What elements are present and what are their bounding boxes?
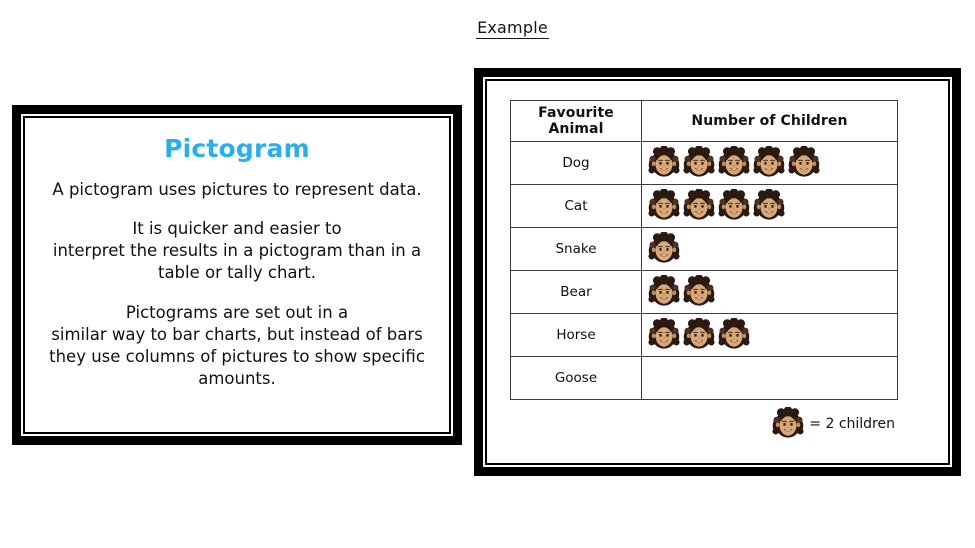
child-face-icon	[647, 232, 681, 266]
example-panel-inner-frame: Favourite Animal Number of Children DogC…	[485, 79, 950, 465]
icon-count-cell	[642, 357, 898, 400]
column-header-children: Number of Children	[642, 101, 898, 142]
pictogram-legend: = 2 children	[510, 407, 897, 441]
child-face-icon	[682, 318, 716, 352]
animal-name-cell: Dog	[511, 142, 642, 185]
info-paragraph-3: Pictograms are set out in asimilar way t…	[44, 302, 430, 390]
child-face-icon	[771, 407, 805, 441]
pictogram-table-body: DogCatSnakeBearHorseGoose	[511, 142, 898, 400]
column-header-animal: Favourite Animal	[511, 101, 642, 142]
table-header-row: Favourite Animal Number of Children	[511, 101, 898, 142]
child-face-icon	[787, 146, 821, 180]
table-row: Goose	[511, 357, 898, 400]
info-panel-inner-frame: Pictogram A pictogram uses pictures to r…	[23, 116, 451, 434]
table-row: Dog	[511, 142, 898, 185]
child-face-icon	[682, 275, 716, 309]
icon-count-cell	[642, 314, 898, 357]
animal-name-cell: Horse	[511, 314, 642, 357]
icon-count-cell	[642, 142, 898, 185]
info-paragraph-2: It is quicker and easier tointerpret the…	[44, 218, 430, 284]
page-title: Pictogram	[44, 135, 430, 163]
table-row: Cat	[511, 185, 898, 228]
child-face-icon	[647, 146, 681, 180]
table-row: Snake	[511, 228, 898, 271]
table-row: Horse	[511, 314, 898, 357]
child-face-icon	[682, 189, 716, 223]
child-face-icon	[682, 146, 716, 180]
info-panel-body: Pictogram A pictogram uses pictures to r…	[28, 121, 446, 398]
icon-count-cell	[642, 271, 898, 314]
animal-name-cell: Goose	[511, 357, 642, 400]
example-panel-canvas: Favourite Animal Number of Children DogC…	[490, 84, 945, 460]
icon-count-cell	[642, 185, 898, 228]
table-row: Bear	[511, 271, 898, 314]
icon-count-cell	[642, 228, 898, 271]
child-face-icon	[647, 189, 681, 223]
child-face-icon	[752, 146, 786, 180]
child-face-icon	[647, 318, 681, 352]
child-face-icon	[717, 318, 751, 352]
child-face-icon	[752, 189, 786, 223]
child-face-icon	[717, 189, 751, 223]
pictogram-table: Favourite Animal Number of Children DogC…	[510, 100, 898, 400]
pictogram-info-panel: Pictogram A pictogram uses pictures to r…	[12, 105, 462, 445]
example-panel-body: Favourite Animal Number of Children DogC…	[490, 84, 945, 460]
animal-name-cell: Bear	[511, 271, 642, 314]
example-heading: Example	[0, 18, 975, 39]
info-panel-frame-gap: Pictogram A pictogram uses pictures to r…	[21, 114, 453, 436]
info-paragraph-1: A pictogram uses pictures to represent d…	[44, 179, 430, 201]
legend-label: = 2 children	[809, 416, 895, 432]
child-face-icon	[647, 275, 681, 309]
pictogram-example-panel: Favourite Animal Number of Children DogC…	[474, 68, 961, 476]
example-panel-frame-gap: Favourite Animal Number of Children DogC…	[483, 77, 952, 467]
child-face-icon	[717, 146, 751, 180]
example-heading-label: Example	[476, 18, 549, 39]
info-panel-canvas: Pictogram A pictogram uses pictures to r…	[28, 121, 446, 429]
animal-name-cell: Snake	[511, 228, 642, 271]
animal-name-cell: Cat	[511, 185, 642, 228]
pictogram-table-head: Favourite Animal Number of Children	[511, 101, 898, 142]
